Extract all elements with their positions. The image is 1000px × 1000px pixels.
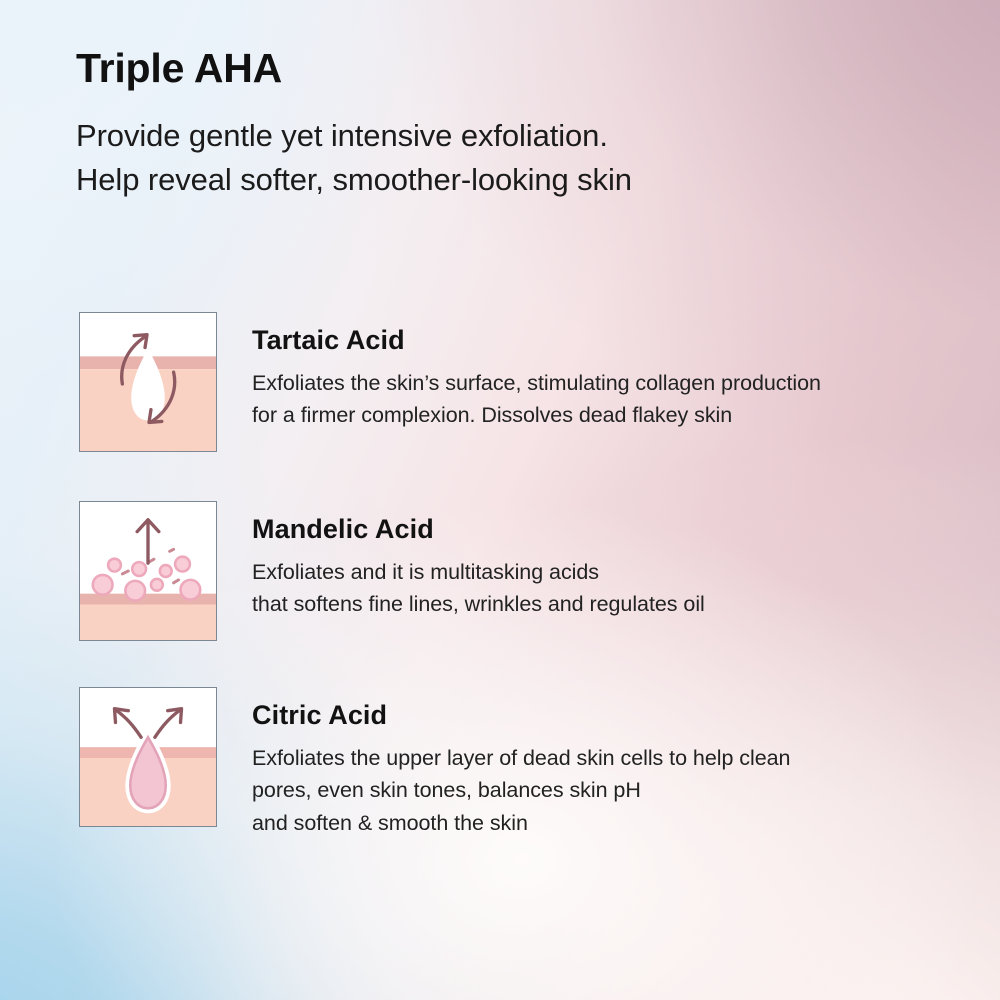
page-title: Triple AHA <box>76 46 282 91</box>
benefit-description-line-3: and soften & smooth the skin <box>252 807 790 840</box>
benefit-description-line-1: Exfoliates and it is multitasking acids <box>252 556 705 589</box>
benefit-text-tartaic-acid: Tartaic Acid Exfoliates the skin’s surfa… <box>252 312 821 432</box>
benefit-description: Exfoliates and it is multitasking acids … <box>252 549 705 621</box>
benefit-description: Exfoliates the upper layer of dead skin … <box>252 735 790 840</box>
page-subtitle: Provide gentle yet intensive exfoliation… <box>76 114 632 202</box>
benefit-title: Citric Acid <box>252 687 790 731</box>
benefit-description-line-2: pores, even skin tones, balances skin pH <box>252 774 790 807</box>
skin-layer-pore-droplet-icon <box>79 687 217 827</box>
benefit-description-line-2: that softens fine lines, wrinkles and re… <box>252 588 705 621</box>
page-subtitle-line-1: Provide gentle yet intensive exfoliation… <box>76 114 632 158</box>
benefit-title: Tartaic Acid <box>252 312 821 356</box>
benefit-description: Exfoliates the skin’s surface, stimulati… <box>252 360 821 432</box>
skin-layer-droplet-circulation-icon <box>79 312 217 452</box>
product-benefits-poster: Triple AHA Provide gentle yet intensive … <box>0 0 1000 1000</box>
benefit-text-citric-acid: Citric Acid Exfoliates the upper layer o… <box>252 687 790 840</box>
page-subtitle-line-2: Help reveal softer, smoother-looking ski… <box>76 158 632 202</box>
skin-layer-bubbles-uparrow-icon <box>79 501 217 641</box>
benefit-text-mandelic-acid: Mandelic Acid Exfoliates and it is multi… <box>252 501 705 621</box>
benefit-description-line-1: Exfoliates the skin’s surface, stimulati… <box>252 367 821 400</box>
benefit-title: Mandelic Acid <box>252 501 705 545</box>
benefit-description-line-1: Exfoliates the upper layer of dead skin … <box>252 742 790 775</box>
benefit-description-line-2: for a firmer complexion. Dissolves dead … <box>252 399 821 432</box>
